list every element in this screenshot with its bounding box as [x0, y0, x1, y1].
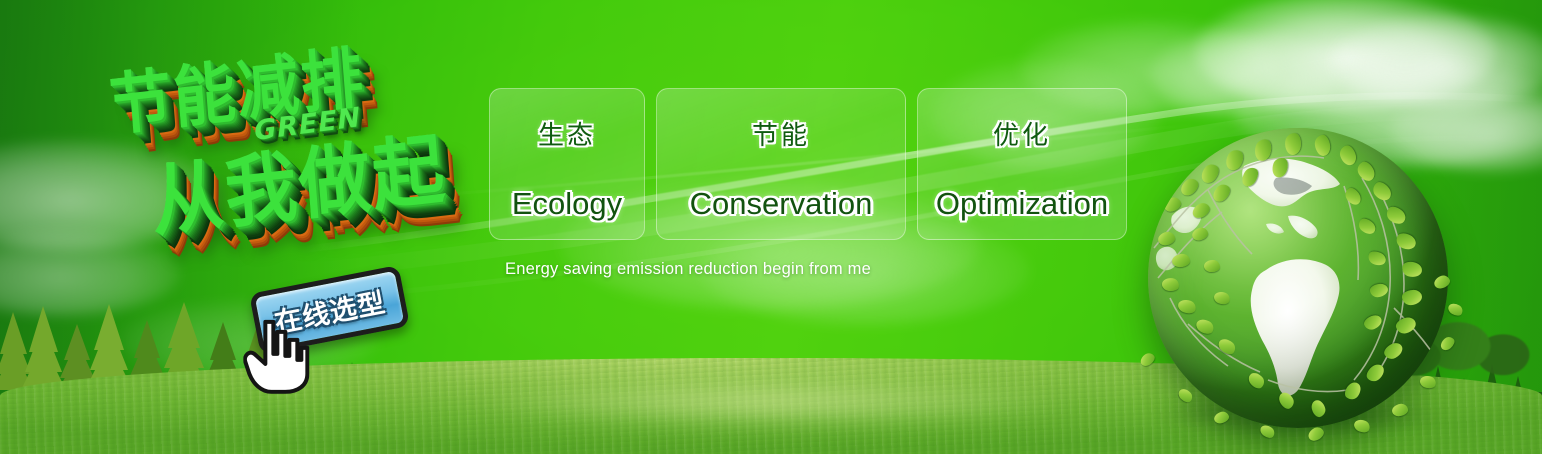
globe-vines	[1148, 128, 1448, 428]
feature-card-title-en: Ecology	[512, 186, 622, 222]
feature-card-optimization[interactable]: 优化 Optimization	[917, 88, 1127, 240]
globe-sphere	[1148, 128, 1448, 428]
grass-highlight	[463, 376, 1083, 428]
feature-card-ecology[interactable]: 生态 Ecology	[489, 88, 645, 240]
green-banner: 节能减排 GREEN 从我做起 在线选型 生态 Ecology 节能 Conse…	[0, 0, 1542, 454]
hand-pointer-icon	[243, 318, 309, 394]
feature-card-title-cn: 生态	[538, 115, 596, 152]
feature-card-title-cn: 优化	[993, 115, 1051, 152]
leaf-globe-image	[1148, 128, 1448, 428]
feature-card-list: 生态 Ecology 节能 Conservation 优化 Optimizati…	[489, 88, 1127, 240]
feature-card-title-en: Optimization	[936, 186, 1108, 222]
feature-card-title-en: Conservation	[690, 186, 873, 222]
hero-title: 节能减排 GREEN 从我做起	[88, 21, 505, 282]
feature-card-title-cn: 节能	[752, 115, 810, 152]
leaf-icon	[1204, 260, 1220, 273]
feature-card-conservation[interactable]: 节能 Conservation	[656, 88, 906, 240]
banner-tagline: Energy saving emission reduction begin f…	[505, 260, 871, 279]
